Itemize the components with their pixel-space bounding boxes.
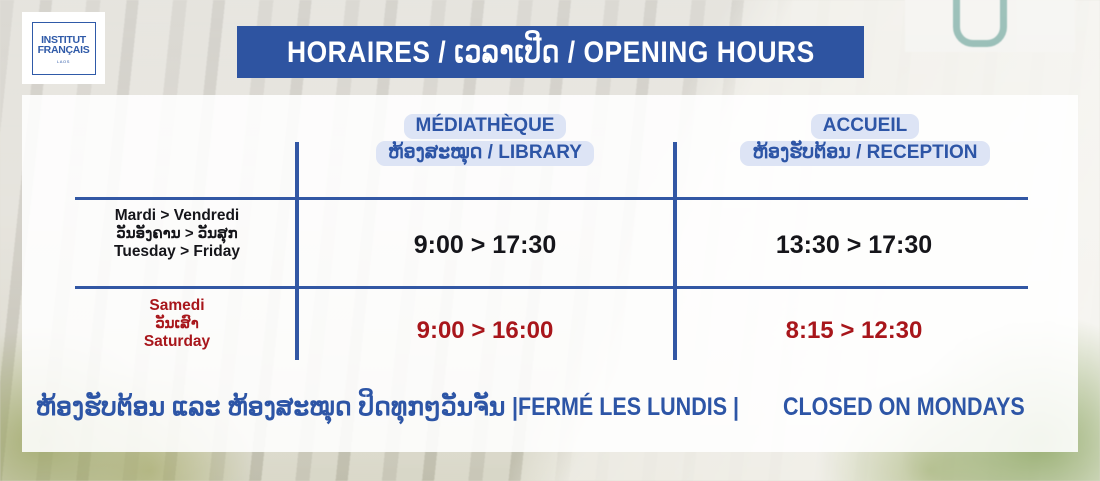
hours-reception-saturday: 8:15 > 12:30 [678, 317, 1030, 345]
column-header-reception-fr: ACCUEIL [811, 114, 919, 139]
row-label-weekday-en: Tuesday > Friday [62, 243, 292, 261]
column-header-library: MÉDIATHÈQUE ຫ້ອງສະໝຸດ / LIBRARY [320, 114, 650, 166]
column-header-reception-lo-en: ຫ້ອງຮັບຕ້ອນ / RECEPTION [740, 141, 989, 166]
table-vertical-divider-right [673, 142, 677, 360]
row-label-weekday: Mardi > Vendredi ວັນອັງຄານ > ວັນສຸກ Tues… [62, 207, 292, 261]
hours-library-weekday: 9:00 > 17:30 [300, 231, 670, 260]
column-header-library-lo-en: ຫ້ອງສະໝຸດ / LIBRARY [376, 141, 594, 166]
row-label-saturday-fr: Samedi [62, 297, 292, 315]
closed-note-fr: |FERMÉ LES LUNDIS | [512, 393, 739, 422]
closed-note-lo: ຫ້ອງຮັບຕ້ອນ ແລະ ຫ້ອງສະໝຸດ ປິດທຸກໆວັນຈັນ [36, 393, 506, 421]
hours-reception-weekday: 13:30 > 17:30 [678, 231, 1030, 260]
table-vertical-divider-left [295, 142, 299, 360]
closed-note-en: CLOSED ON MONDAYS [783, 393, 1025, 422]
row-label-saturday: Samedi ວັນເສົາ Saturday [62, 297, 292, 351]
logo-country-label: LAOS [57, 59, 70, 64]
logo-line-institut: INSTITUT [41, 35, 86, 45]
column-header-library-fr: MÉDIATHÈQUE [404, 114, 567, 139]
institut-francais-logo: INSTITUT FRANÇAIS LAOS [22, 12, 105, 84]
row-label-saturday-en: Saturday [62, 333, 292, 351]
logo-line-francais: FRANÇAIS [38, 45, 90, 55]
closed-mondays-note: ຫ້ອງຮັບຕ້ອນ ແລະ ຫ້ອງສະໝຸດ ປິດທຸກໆວັນຈັນ … [22, 392, 1078, 422]
page-title: HORAIRES / ເວລາເປີດ / OPENING HOURS [287, 35, 815, 70]
row-label-weekday-fr: Mardi > Vendredi [62, 207, 292, 225]
table-horizontal-divider-bottom [75, 286, 1028, 289]
logo-frame: INSTITUT FRANÇAIS LAOS [32, 22, 96, 75]
hours-library-saturday: 9:00 > 16:00 [300, 317, 670, 345]
header-banner: HORAIRES / ເວລາເປີດ / OPENING HOURS [237, 26, 864, 78]
column-header-reception: ACCUEIL ຫ້ອງຮັບຕ້ອນ / RECEPTION [700, 114, 1030, 166]
row-label-saturday-lo: ວັນເສົາ [62, 315, 292, 333]
row-label-weekday-lo: ວັນອັງຄານ > ວັນສຸກ [62, 225, 292, 243]
table-horizontal-divider-top [75, 197, 1028, 200]
